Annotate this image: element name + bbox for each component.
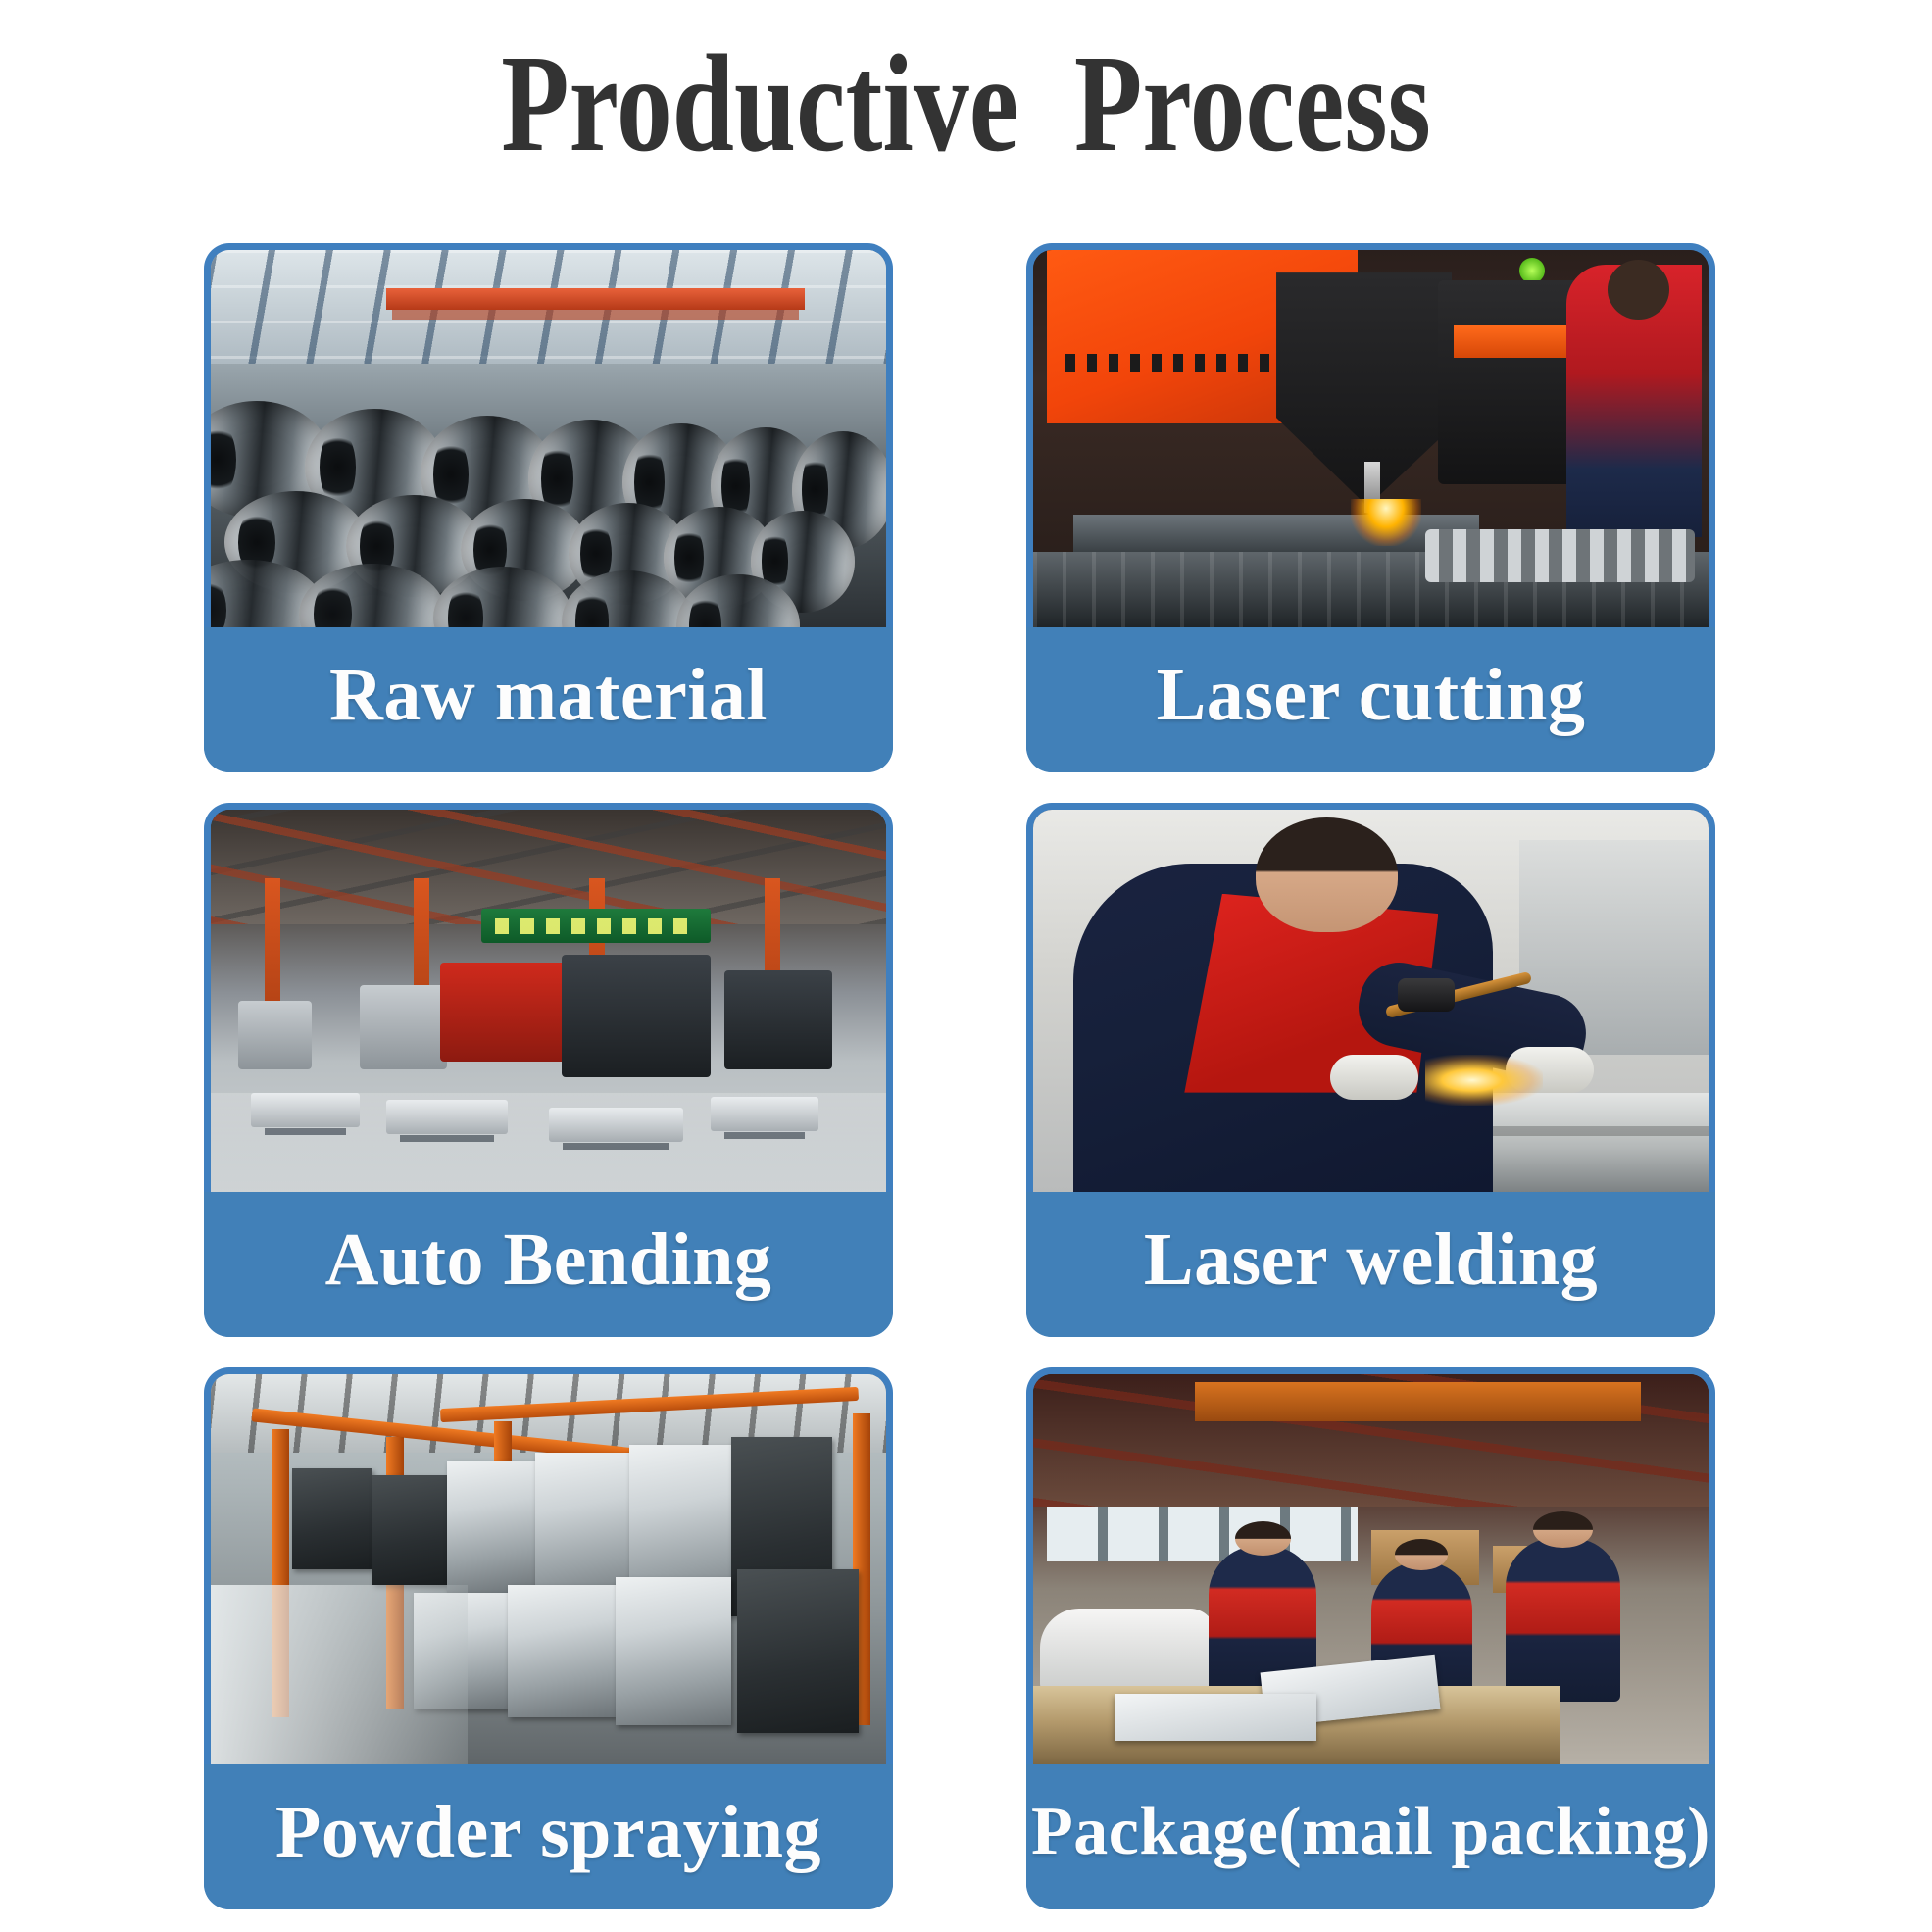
package-caption: Package(mail packing): [1026, 1764, 1715, 1909]
page-title: Productive Process: [193, 33, 1739, 173]
laser-cutting-machine-illustration: [1033, 250, 1709, 627]
package-photo: [1033, 1374, 1709, 1764]
process-card-raw-material[interactable]: Raw material: [204, 243, 893, 772]
powder-coating-line-illustration: [211, 1374, 886, 1764]
welder-closeup-illustration: [1033, 810, 1709, 1192]
raw-material-caption: Raw material: [204, 627, 893, 772]
process-card-powder-spraying[interactable]: Powder spraying: [204, 1367, 893, 1909]
powder-spraying-caption: Powder spraying: [204, 1764, 893, 1909]
laser-welding-photo: [1033, 810, 1709, 1192]
laser-cutting-caption: Laser cutting: [1026, 627, 1715, 772]
bending-workshop-illustration: [211, 810, 886, 1192]
laser-cutting-photo: [1033, 250, 1709, 627]
process-card-package[interactable]: Package(mail packing): [1026, 1367, 1715, 1909]
auto-bending-caption: Auto Bending: [204, 1192, 893, 1337]
warehouse-steel-coils-illustration: [211, 250, 886, 627]
process-card-grid: Raw material Laser cutting: [204, 243, 1715, 1909]
process-card-laser-cutting[interactable]: Laser cutting: [1026, 243, 1715, 772]
process-card-auto-bending[interactable]: Auto Bending: [204, 803, 893, 1337]
process-card-laser-welding[interactable]: Laser welding: [1026, 803, 1715, 1337]
auto-bending-photo: [211, 810, 886, 1192]
packing-workers-illustration: [1033, 1374, 1709, 1764]
laser-welding-caption: Laser welding: [1026, 1192, 1715, 1337]
powder-spraying-photo: [211, 1374, 886, 1764]
raw-material-photo: [211, 250, 886, 627]
